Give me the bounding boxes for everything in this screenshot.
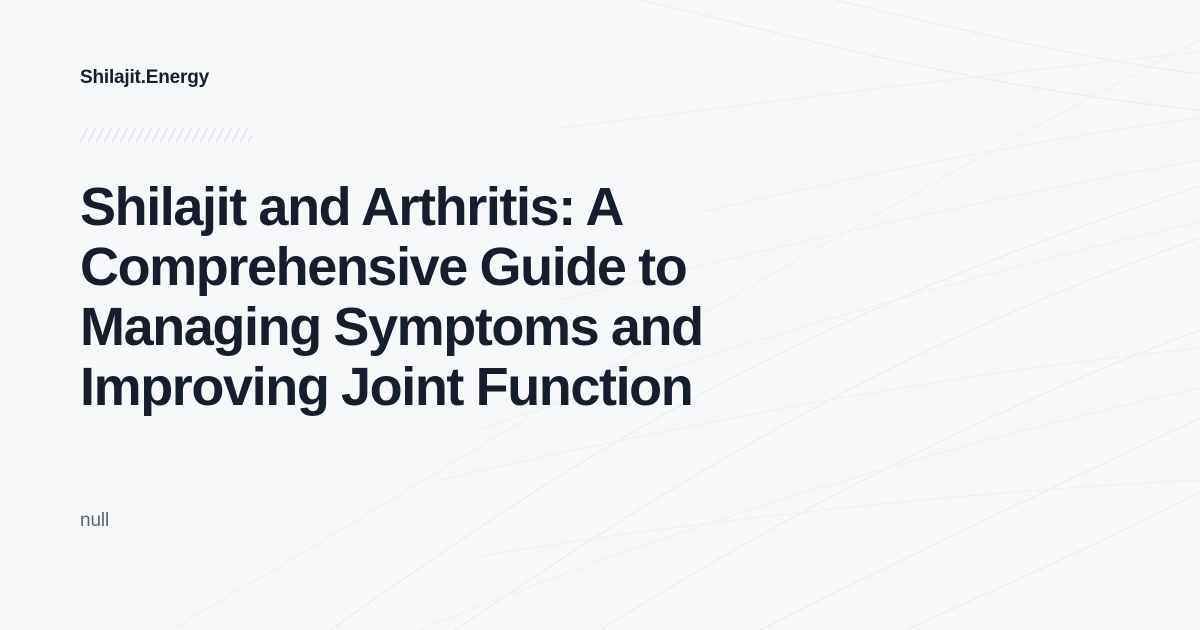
page-title: Shilajit and Arthritis: A Comprehensive … [80,177,780,417]
diagonal-hatch-divider-icon [80,127,252,143]
site-name: Shilajit.Energy [80,68,209,87]
social-share-card: Shilajit.Energy Shilajit and Arthritis: … [0,0,1200,630]
page-subtitle: null [80,508,109,534]
card-content: Shilajit.Energy Shilajit and Arthritis: … [0,0,1200,630]
